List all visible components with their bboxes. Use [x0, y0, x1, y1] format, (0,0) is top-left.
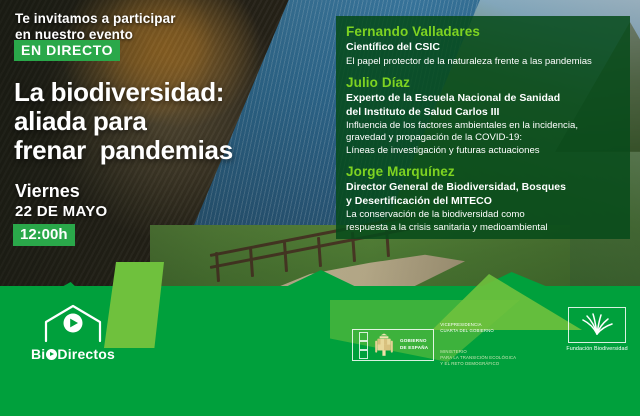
- speaker-role-line-1: Experto de la Escuela Nacional de Sanida…: [346, 92, 620, 105]
- speaker-talk-line-1: Influencia de los factores ambientales e…: [346, 120, 620, 132]
- speaker-entry: Jorge Marquínez Director General de Biod…: [346, 164, 620, 234]
- biodirectos-word-before: Bi: [31, 346, 45, 362]
- speaker-panel: Fernando Valladares Científico del CSIC …: [336, 16, 630, 239]
- ministerio-line: MINISTERIO PARA LA TRANSICIÓN ECOLÓGICA …: [440, 349, 516, 367]
- biodirectos-logo: BiDirectos: [28, 303, 118, 362]
- event-time-badge: 12:00h: [13, 224, 75, 246]
- flag-marks-icon: [358, 332, 368, 358]
- speaker-role-line-2: y Desertificación del MITECO: [346, 195, 620, 208]
- speaker-entry: Fernando Valladares Científico del CSIC …: [346, 24, 620, 68]
- fundacion-wordmark: Fundación Biodiversidad: [566, 346, 628, 352]
- gobierno-de-espana-logo: GOBIERNO DE ESPAÑA VICEPRESIDENCIA CUART…: [352, 310, 516, 379]
- speaker-talk-line-1: La conservación de la biodiversidad como: [346, 209, 620, 221]
- play-dot-icon: [46, 349, 57, 360]
- speaker-role: Experto de la Escuela Nacional de Sanida…: [346, 92, 620, 119]
- title-line-1: La biodiversidad:: [14, 78, 324, 107]
- page-title: La biodiversidad: aliada para frenar pan…: [14, 78, 324, 165]
- speaker-talk: Influencia de los factores ambientales e…: [346, 120, 620, 157]
- biodirectos-wordmark: BiDirectos: [28, 346, 118, 362]
- speaker-talk-line-1: El papel protector de la naturaleza fren…: [346, 56, 620, 68]
- event-day: Viernes: [15, 181, 80, 202]
- invitation-text: Te invitamos a participar en nuestro eve…: [15, 11, 285, 44]
- invitation-line-1: Te invitamos a participar: [15, 11, 285, 27]
- speaker-talk-line-3: Líneas de investigación y futuras actuac…: [346, 145, 620, 157]
- speaker-role-line-2: del Instituto de Salud Carlos III: [346, 106, 620, 119]
- title-line-2: aliada para: [14, 107, 324, 136]
- speaker-name: Julio Díaz: [346, 75, 620, 91]
- fundacion-biodiversidad-logo: Fundación Biodiversidad: [566, 307, 628, 352]
- gobierno-label: GOBIERNO DE ESPAÑA: [400, 338, 428, 350]
- speaker-talk-line-2: respuesta a la crisis sanitaria y medioa…: [346, 222, 620, 234]
- vicepresidencia-line-1: VICEPRESIDENCIA CUARTA DEL GOBIERNO: [440, 322, 516, 334]
- speaker-name: Fernando Valladares: [346, 24, 620, 40]
- fundacion-logo-box: [568, 307, 626, 343]
- speaker-talk-line-2: gravedad y propagación de la COVID-19:: [346, 132, 620, 144]
- grass-tuft-icon: [580, 311, 614, 340]
- speaker-role: Científico del CSIC: [346, 41, 620, 54]
- speaker-role-line-1: Director General de Biodiversidad, Bosqu…: [346, 181, 620, 194]
- event-date: 22 DE MAYO: [15, 203, 107, 220]
- event-poster: Te invitamos a participar en nuestro eve…: [0, 0, 640, 416]
- speaker-role-line-1: Científico del CSIC: [346, 41, 620, 54]
- spain-coat-of-arms-icon: [373, 332, 395, 358]
- speaker-talk: El papel protector de la naturaleza fren…: [346, 56, 620, 68]
- vicepresidencia-label: VICEPRESIDENCIA CUARTA DEL GOBIERNO MINI…: [440, 310, 516, 379]
- biodirectos-word-mid: Directos: [57, 346, 115, 362]
- title-line-3: frenar pandemias: [14, 136, 324, 165]
- gobierno-logo-box: GOBIERNO DE ESPAÑA: [352, 329, 434, 361]
- house-play-icon: [40, 303, 106, 343]
- live-badge: EN DIRECTO: [14, 40, 120, 61]
- speaker-name: Jorge Marquínez: [346, 164, 620, 180]
- speaker-talk: La conservación de la biodiversidad como…: [346, 209, 620, 234]
- speaker-role: Director General de Biodiversidad, Bosqu…: [346, 181, 620, 208]
- speaker-entry: Julio Díaz Experto de la Escuela Naciona…: [346, 75, 620, 157]
